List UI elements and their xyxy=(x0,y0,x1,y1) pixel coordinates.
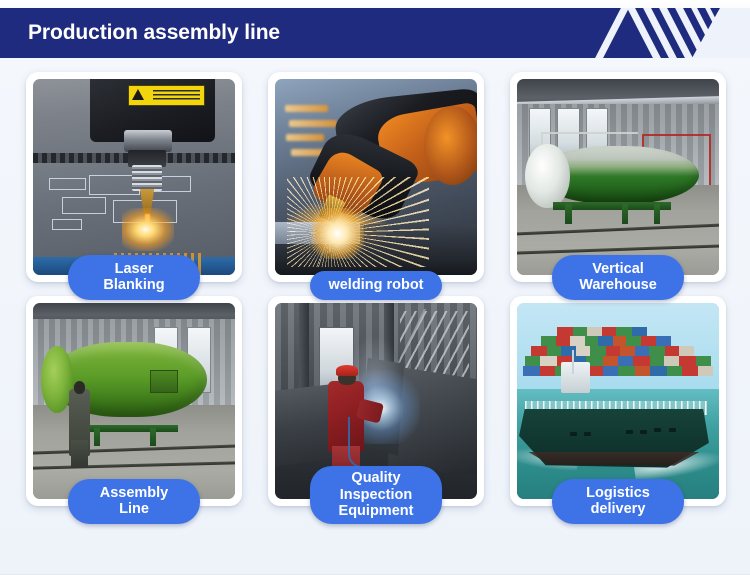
card-image-assembly-line xyxy=(33,303,235,499)
tank-end-cap xyxy=(525,144,569,209)
hull-port xyxy=(570,432,577,436)
welding-cable xyxy=(348,417,372,468)
ship-mast xyxy=(572,350,574,374)
container-stack xyxy=(525,356,711,366)
card-image-laser-blanking xyxy=(33,79,235,275)
tank-cradle-leg xyxy=(94,428,100,446)
tank-cradle xyxy=(77,425,178,433)
robot-shoulder-joint xyxy=(424,106,477,184)
worker-head xyxy=(74,381,85,394)
card-image-logistics-delivery xyxy=(517,303,719,499)
card-label[interactable]: Quality Inspection Equipment xyxy=(310,466,442,524)
container-stack xyxy=(531,346,705,356)
container-stack xyxy=(541,336,690,346)
laser-head-upper xyxy=(124,130,172,152)
card-label[interactable]: welding robot xyxy=(310,271,442,300)
company-logo-icon xyxy=(570,8,750,58)
container-stack xyxy=(523,366,713,376)
card-image-vertical-warehouse xyxy=(517,79,719,275)
tank-hatch xyxy=(150,370,178,394)
weld-arc-core xyxy=(311,208,364,259)
page-header: Production assembly line xyxy=(0,8,750,58)
tank-cradle-leg xyxy=(150,428,156,446)
card-label[interactable]: Laser Blanking xyxy=(68,255,200,300)
laser-head-lower xyxy=(132,165,162,190)
product-card-grid: Laser Blanking xyxy=(26,72,726,506)
product-card[interactable]: Vertical Warehouse xyxy=(510,72,726,282)
hull-boot-stripe xyxy=(525,452,703,466)
card-image-welding-robot xyxy=(275,79,477,275)
laser-sparks xyxy=(122,208,175,251)
tank-cradle-leg xyxy=(654,204,660,224)
ship-bridge xyxy=(561,362,589,393)
card-label[interactable]: Assembly Line xyxy=(68,479,200,524)
laser-warning-label-icon xyxy=(128,85,205,107)
hull-port xyxy=(584,432,591,436)
product-card[interactable]: Quality Inspection Equipment xyxy=(268,296,484,506)
page-title: Production assembly line xyxy=(28,8,280,58)
card-label[interactable]: Vertical Warehouse xyxy=(552,255,684,300)
product-card[interactable]: Logistics delivery xyxy=(510,296,726,506)
tank-cradle-leg xyxy=(622,204,628,224)
hull-port xyxy=(654,428,661,432)
product-card[interactable]: Assembly Line xyxy=(26,296,242,506)
container-stack xyxy=(557,327,666,337)
tank-cradle-leg xyxy=(565,204,571,224)
worker-legs xyxy=(71,440,87,467)
hull-port xyxy=(626,430,633,434)
worker-red-helmet xyxy=(336,365,358,376)
product-showcase-page: Production assembly line xyxy=(0,0,750,575)
hull-port xyxy=(669,428,676,432)
product-card[interactable]: Laser Blanking xyxy=(26,72,242,282)
product-card[interactable]: welding robot xyxy=(268,72,484,282)
card-label[interactable]: Logistics delivery xyxy=(552,479,684,524)
hull-port xyxy=(640,430,647,434)
